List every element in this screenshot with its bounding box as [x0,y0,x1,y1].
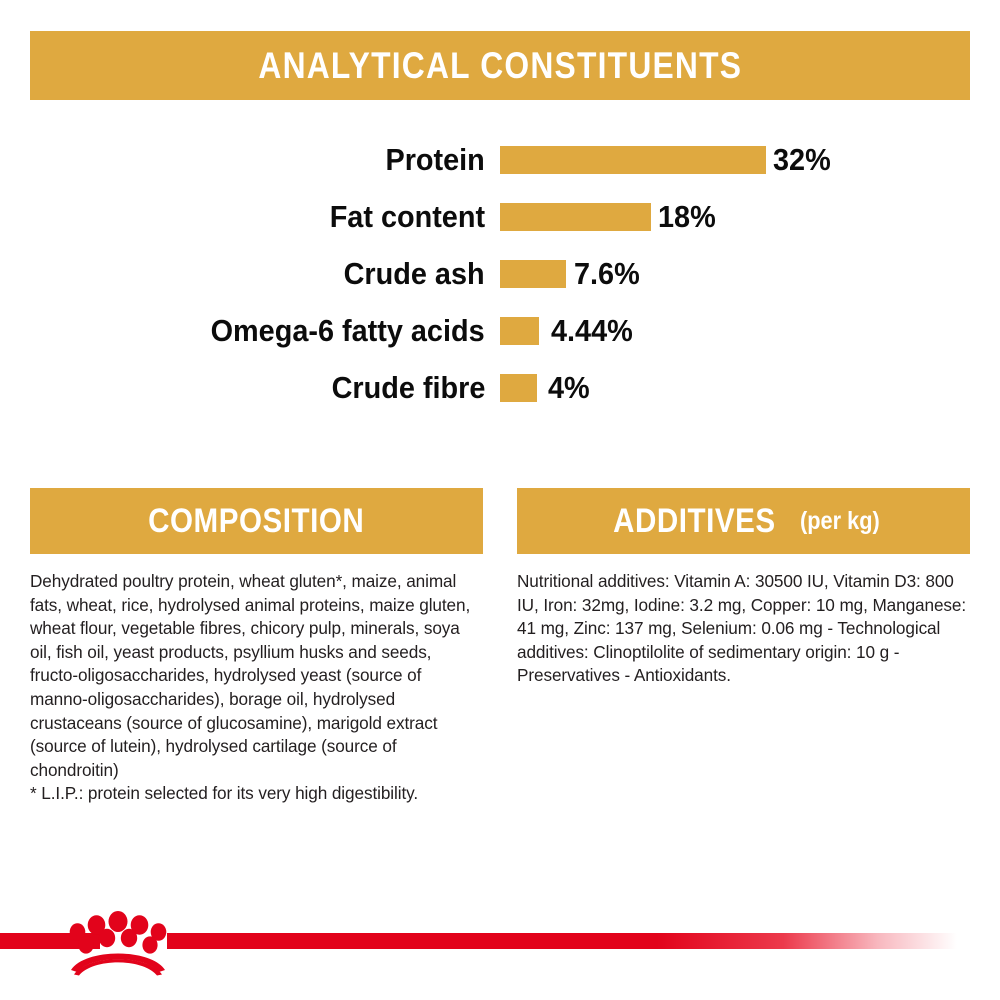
chart-row-omega-6-fatty-acids: Omega-6 fatty acids 4.44% [0,303,1000,360]
composition-text-block: Dehydrated poultry protein, wheat gluten… [30,570,480,806]
chart-row-crude-fibre: Crude fibre 4% [0,360,1000,417]
bar-fill-omega-6-fatty-acids [500,317,539,345]
chart-row-protein: Protein 32% [0,132,1000,189]
bar-track-protein [500,146,766,174]
additives-banner-subtitle: (per kg) [800,507,880,536]
footer-rule-right [167,933,957,949]
composition-banner: COMPOSITION [30,488,483,554]
bar-fill-crude-ash [500,260,566,288]
bar-fill-protein [500,146,766,174]
bar-track-omega-6-fatty-acids [500,317,539,345]
bar-value-protein: 32% [773,132,831,189]
bar-label-fat-content: Fat content [330,189,485,246]
bar-fill-crude-fibre [500,374,537,402]
bar-track-crude-ash [500,260,566,288]
composition-banner-title: COMPOSITION [148,502,364,541]
chart-row-fat-content: Fat content 18% [0,189,1000,246]
bar-value-fat-content: 18% [658,189,716,246]
bar-label-omega-6-fatty-acids: Omega-6 fatty acids [211,303,485,360]
composition-ingredients: Dehydrated poultry protein, wheat gluten… [30,570,480,782]
bar-value-crude-ash: 7.6% [574,246,640,303]
analytical-constituents-banner: ANALYTICAL CONSTITUENTS [30,31,970,100]
bar-label-crude-ash: Crude ash [344,246,485,303]
additives-details: Nutritional additives: Vitamin A: 30500 … [517,570,972,688]
bar-label-crude-fibre: Crude fibre [331,360,485,417]
bar-track-fat-content [500,203,651,231]
bar-track-crude-fibre [500,374,537,402]
royal-canin-crown-icon [63,908,173,976]
bar-value-crude-fibre: 4% [548,360,590,417]
additives-banner: ADDITIVES (per kg) [517,488,970,554]
footer-rule-left [0,933,100,949]
additives-banner-title: ADDITIVES [613,502,775,541]
chart-row-crude-ash: Crude ash 7.6% [0,246,1000,303]
additives-text-block: Nutritional additives: Vitamin A: 30500 … [517,570,972,688]
bar-label-protein: Protein [386,132,485,189]
analytical-constituents-chart: Protein 32% Fat content 18% Crude ash 7.… [0,132,1000,417]
page-title: ANALYTICAL CONSTITUENTS [258,45,742,87]
bar-fill-fat-content [500,203,651,231]
bar-value-omega-6-fatty-acids: 4.44% [551,303,633,360]
composition-footnote: * L.I.P.: protein selected for its very … [30,782,480,806]
